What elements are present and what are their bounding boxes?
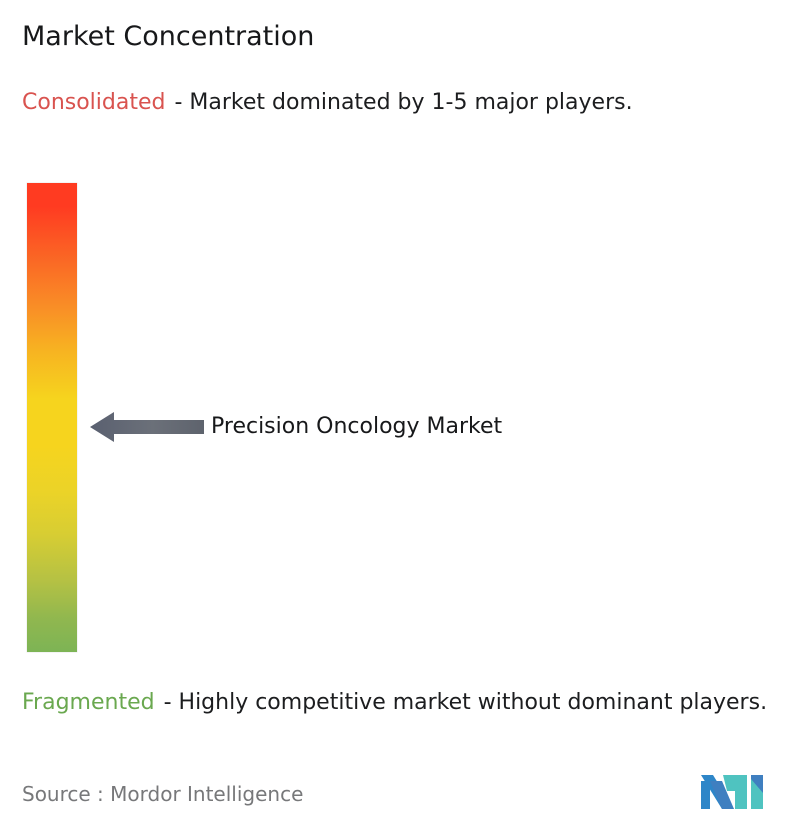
market-marker-label: Precision Oncology Market xyxy=(211,412,502,442)
page-title: Market Concentration xyxy=(22,20,314,54)
fragmented-caption: Fragmented- Highly competitive market wi… xyxy=(22,687,782,718)
concentration-gradient-bar xyxy=(27,183,77,652)
fragmented-keyword: Fragmented xyxy=(22,690,155,715)
mordor-intelligence-logo-icon xyxy=(701,771,771,813)
fragmented-description: - Highly competitive market without domi… xyxy=(164,690,767,715)
source-text: Source : Mordor Intelligence xyxy=(22,781,303,807)
consolidated-caption: Consolidated- Market dominated by 1-5 ma… xyxy=(22,87,782,118)
consolidated-keyword: Consolidated xyxy=(22,90,165,115)
consolidated-description: - Market dominated by 1-5 major players. xyxy=(174,90,632,115)
market-concentration-chart: Market Concentration Consolidated- Marke… xyxy=(0,0,796,834)
left-arrow-icon xyxy=(90,408,204,446)
